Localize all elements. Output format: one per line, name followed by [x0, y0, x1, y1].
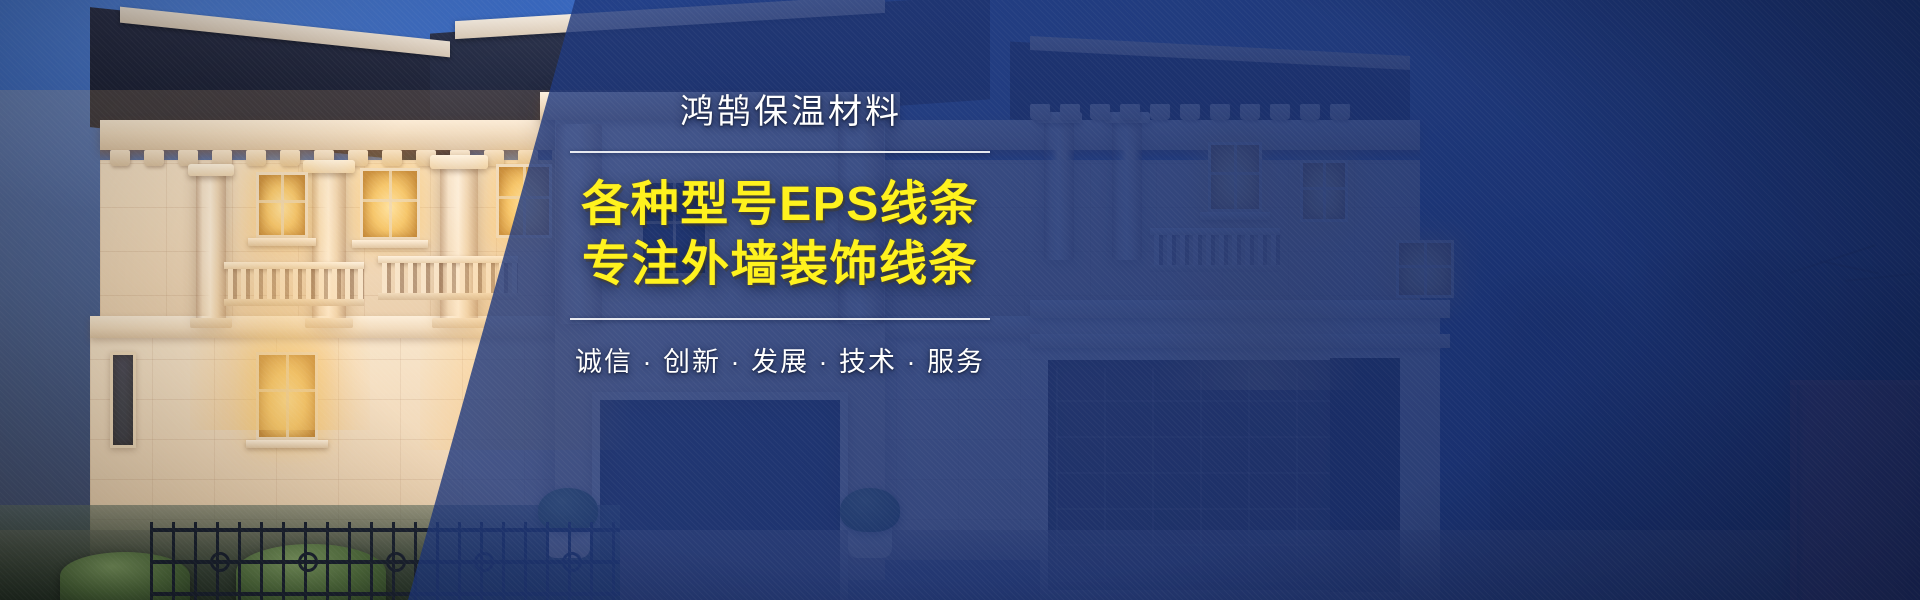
headline-line-1: 各种型号EPS线条: [581, 178, 979, 231]
window-sill-2: [352, 240, 428, 248]
banner-text-block: 鸿鹄保温材料 各种型号EPS线条 专注外墙装饰线条 诚信 · 创新 · 发展 ·…: [545, 92, 1015, 379]
window-sill-3: [246, 440, 328, 448]
window-upper-left-lit-1: [256, 172, 308, 238]
window-upper-left-lit-3: [496, 164, 552, 238]
balustrade-right-wing: [1150, 228, 1280, 272]
divider-bottom: [570, 318, 990, 320]
window-right-wing-lit-1: [1208, 142, 1262, 212]
brand-name: 鸿鹄保温材料: [545, 92, 1015, 133]
divider-top: [570, 151, 990, 153]
column-capital-left-1: [188, 164, 234, 176]
red-wall-top-cap: [1790, 380, 1920, 385]
column-base-left-2: [305, 318, 353, 328]
hero-banner: 鸿鹄保温材料 各种型号EPS线条 专注外墙装饰线条 诚信 · 创新 · 发展 ·…: [0, 0, 1920, 600]
garage-cornice-lower: [1030, 334, 1450, 348]
column-capital-left-3: [430, 155, 488, 169]
window-upper-left-lit-2: [360, 168, 420, 240]
dentil-row-right: [1030, 104, 1350, 122]
headline-line-2: 专注外墙装饰线条: [545, 235, 1015, 295]
column-base-left-1: [190, 318, 232, 328]
window-right-wing-lit-2: [1300, 160, 1348, 222]
balustrade-upper-left-2: [378, 256, 518, 300]
column-capital-left-2: [303, 160, 355, 173]
red-wall-edge: [1797, 382, 1804, 600]
column-right-1: [1044, 120, 1074, 260]
red-wall: [1790, 382, 1920, 600]
garage-cornice-upper: [1030, 300, 1450, 318]
shrub-right: [840, 488, 900, 532]
column-left-1: [196, 172, 226, 322]
headline: 各种型号EPS线条 专注外墙装饰线条: [545, 175, 1015, 296]
column-base-left-3: [432, 318, 486, 328]
column-right-2: [1112, 120, 1142, 260]
window-lower-narrow-left: [110, 352, 136, 448]
window-right-wing-lit-3: [1396, 240, 1454, 298]
balustrade-upper-left-1: [224, 262, 364, 306]
tagline: 诚信 · 创新 · 发展 · 技术 · 服务: [545, 340, 1015, 379]
window-lower-left-lit: [256, 352, 318, 440]
window-sill-1: [248, 238, 316, 246]
iron-fence: [150, 522, 620, 600]
window-sill-4: [1200, 212, 1270, 220]
